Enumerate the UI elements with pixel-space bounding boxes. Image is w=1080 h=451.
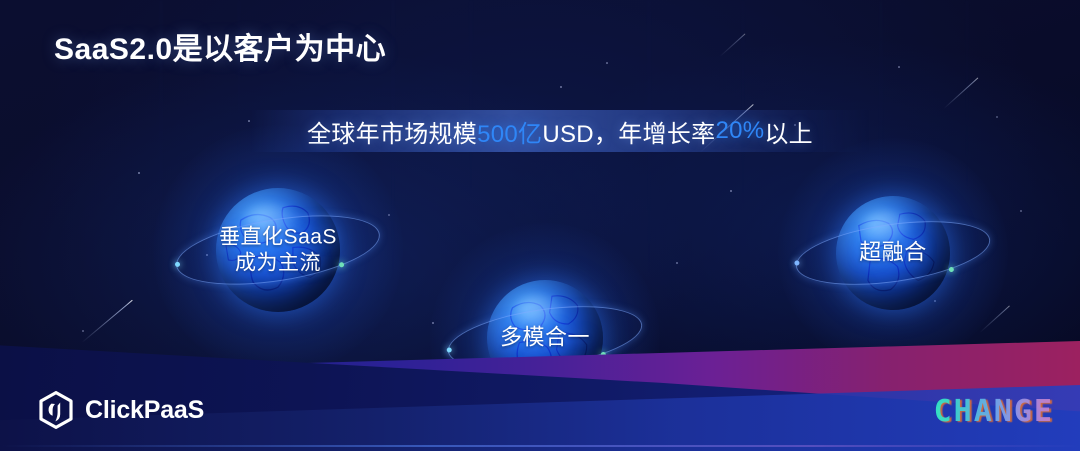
sphere-graphic (836, 196, 950, 310)
orbit-dot (949, 267, 955, 273)
subtitle-prefix: 全球年市场规模 (307, 114, 477, 149)
slide-title: SaaS2.0是以客户为中心 (54, 24, 386, 68)
sphere-graphic (216, 188, 340, 312)
subtitle-middle: USD，年增长率 (542, 114, 715, 149)
subtitle-highlight-amount: 500亿 (477, 114, 542, 149)
logo-text: ClickPaaS (85, 396, 204, 425)
change-watermark-text: CHANGE (934, 394, 1054, 429)
footer-band-highlight-line (0, 445, 1080, 447)
subtitle-highlight-growth: 20% (715, 117, 764, 145)
orbit-dot (794, 260, 800, 266)
sphere-specular-highlight (513, 294, 566, 333)
hexagon-leaf-icon (38, 391, 74, 429)
sphere-specular-highlight (861, 210, 913, 249)
clickpaas-logo[interactable]: ClickPaaS (38, 391, 204, 429)
sphere-specular-highlight (243, 203, 300, 245)
orbit-dot (339, 262, 345, 268)
subtitle-text: 全球年市场规模 500亿USD，年增长率20%以上 (250, 110, 870, 152)
subtitle-suffix: 以上 (764, 114, 813, 149)
orbit-dot (175, 262, 181, 268)
change-watermark: CHANGE CHANGE (934, 394, 1054, 429)
presentation-slide: SaaS2.0是以客户为中心 全球年市场规模 500亿USD，年增长率20%以上… (0, 0, 1080, 451)
